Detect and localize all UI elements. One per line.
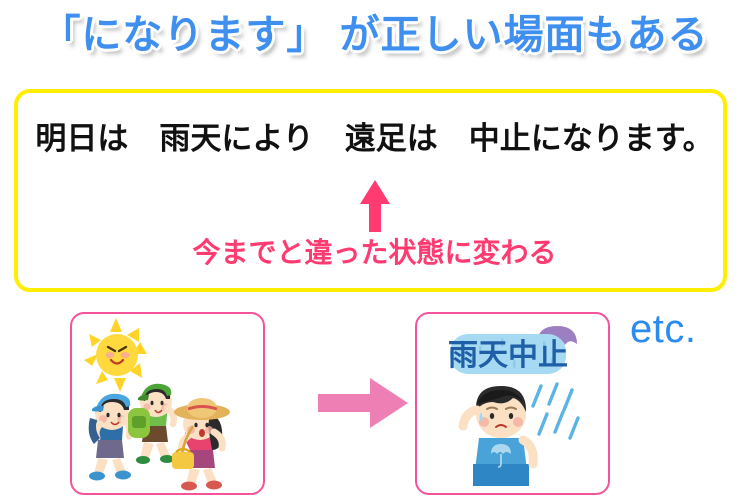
- change-of-state-annotation: 今までと違った状態に変わる: [18, 235, 731, 271]
- rain-cancel-banner: 雨天中止: [448, 334, 568, 374]
- sunny-excursion-artwork: [72, 314, 262, 492]
- page-title: 「になります」 が正しい場面もある: [0, 8, 749, 62]
- rain-streaks-icon: [533, 384, 578, 438]
- child-blue-cap-icon: [89, 394, 131, 481]
- sun-icon: [84, 318, 147, 392]
- banner-text: 雨天中止: [448, 339, 568, 372]
- illustration-sunny-excursion: [70, 312, 265, 495]
- up-arrow-icon: [345, 178, 405, 234]
- child-green-cap-icon: [128, 384, 174, 464]
- rain-cancelled-artwork: 雨天中止: [417, 314, 607, 492]
- etc-label: etc.: [630, 305, 696, 353]
- right-arrow-icon: [318, 372, 410, 434]
- example-sentence: 明日は 雨天により 遠足は 中止になります。: [18, 119, 731, 159]
- slide-root: 「になります」 が正しい場面もある 明日は 雨天により 遠足は 中止になります。…: [0, 0, 749, 500]
- child-straw-hat-icon: [172, 398, 230, 491]
- example-sentence-box: 明日は 雨天により 遠足は 中止になります。 今までと違った状態に変わる: [14, 89, 727, 292]
- sad-boy-icon: [463, 386, 533, 486]
- illustration-rain-cancelled: 雨天中止: [415, 312, 610, 495]
